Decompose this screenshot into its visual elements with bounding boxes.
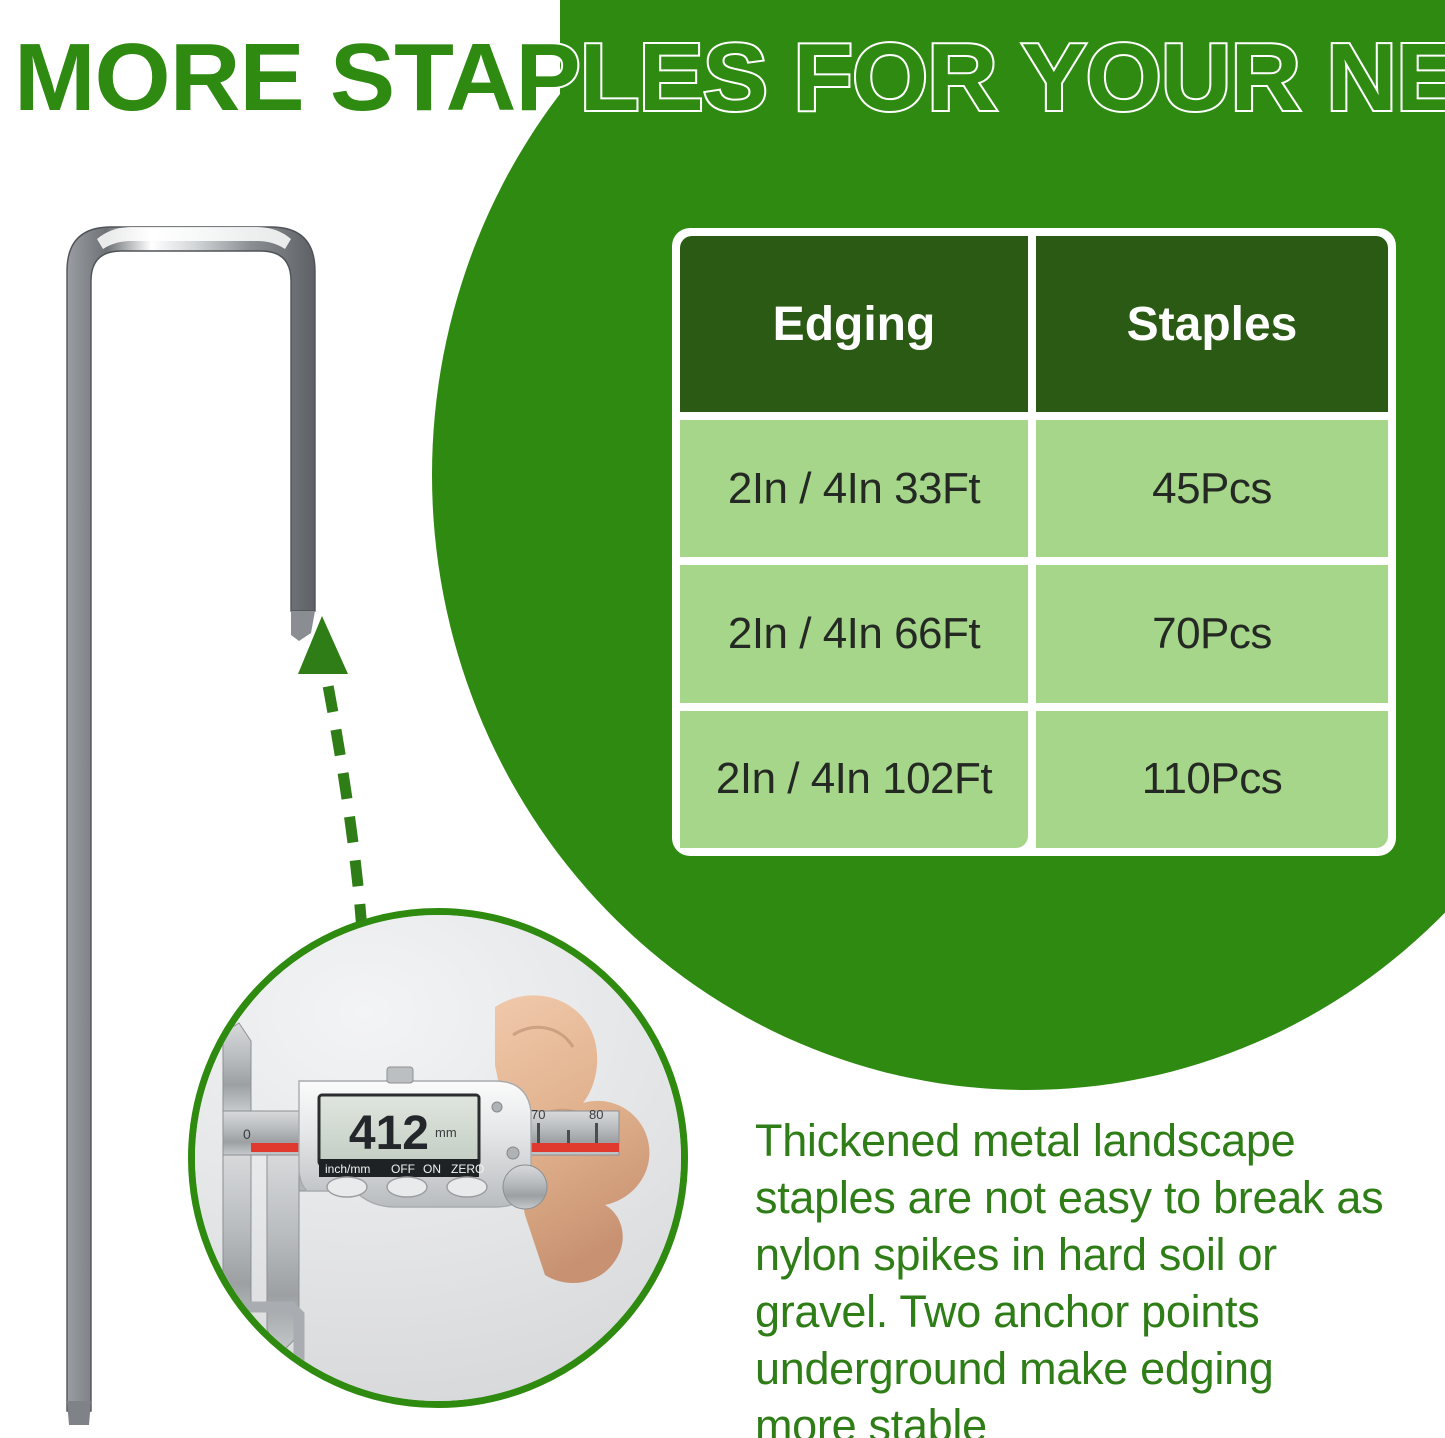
cell-edging: 2In / 4In 102Ft (680, 711, 1028, 848)
table-header-staples: Staples (1036, 236, 1388, 412)
cell-staples: 70Pcs (1036, 565, 1388, 702)
svg-text:80: 80 (589, 1107, 603, 1122)
table-row: 2In / 4In 66Ft 70Pcs (680, 565, 1388, 702)
cell-staples: 110Pcs (1036, 711, 1388, 848)
cell-edging: 2In / 4In 33Ft (680, 420, 1028, 557)
table-header-edging: Edging (680, 236, 1028, 412)
svg-text:inch/mm: inch/mm (325, 1162, 370, 1176)
cell-staples: 45Pcs (1036, 420, 1388, 557)
page-title: MORE STAPLES FOR YOUR NEEDS (14, 26, 1445, 136)
caliper-reading-unit: mm (435, 1125, 457, 1140)
svg-text:OFF: OFF (391, 1162, 415, 1176)
svg-text:ON: ON (423, 1162, 441, 1176)
description-text: Thickened metal landscape staples are no… (755, 1112, 1385, 1438)
svg-text:70: 70 (531, 1107, 545, 1122)
table-header-row: Edging Staples (680, 236, 1388, 412)
cell-edging: 2In / 4In 66Ft (680, 565, 1028, 702)
spec-table: Edging Staples 2In / 4In 33Ft 45Pcs 2In … (672, 228, 1396, 856)
infographic-page: MORE STAPLES FOR YOUR NEEDS (0, 0, 1445, 1438)
caliper-reading-value: 412 (349, 1107, 429, 1160)
table-row: 2In / 4In 102Ft 110Pcs (680, 711, 1388, 848)
caliper-photo-circle: 70 80 0 412 mm (188, 908, 688, 1408)
table-row: 2In / 4In 33Ft 45Pcs (680, 420, 1388, 557)
svg-text:ZERO: ZERO (451, 1162, 484, 1176)
digital-caliper-icon: 70 80 0 412 mm (195, 915, 681, 1401)
svg-text:0: 0 (243, 1126, 251, 1142)
dashed-arrow-up-icon (270, 600, 430, 940)
